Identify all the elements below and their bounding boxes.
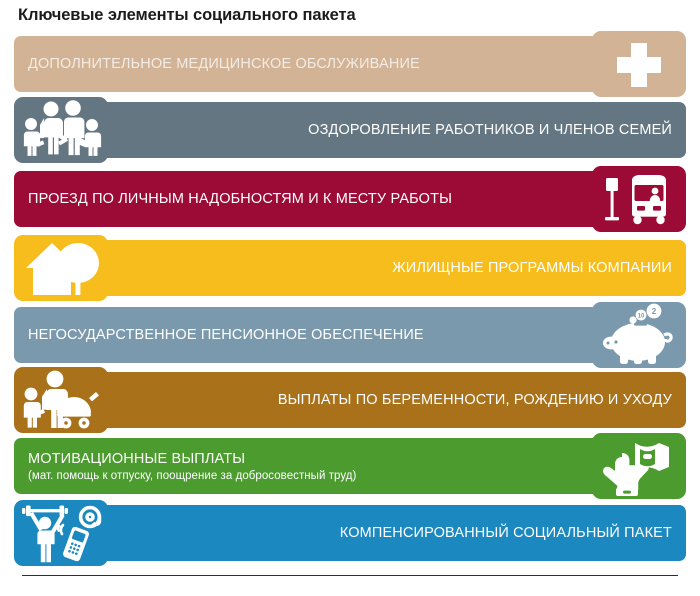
benefit-row-compensation[interactable]: КОМПЕНСИРОВАННЫЙ СОЦИАЛЬНЫЙ ПАКЕТ [14,505,686,561]
medical-cross-icon [592,31,686,97]
mother-children-icon [14,367,108,433]
benefit-label-housing: ЖИЛИЩНЫЕ ПРОГРАММЫ КОМПАНИИ [392,240,672,296]
benefit-label-compensation: КОМПЕНСИРОВАННЫЙ СОЦИАЛЬНЫЙ ПАКЕТ [340,505,672,561]
page-title: Ключевые элементы социального пакета [18,6,356,25]
sport-phone-at-icon [14,500,108,566]
benefit-label-motivation: МОТИВАЦИОННЫЕ ВЫПЛАТЫ(мат. помощь к отпу… [28,438,356,494]
benefit-row-transport[interactable]: ПРОЕЗД ПО ЛИЧНЫМ НАДОБНОСТЯМ И К МЕСТУ Р… [14,171,686,227]
footer-divider [22,575,678,576]
house-tree-icon [14,235,108,301]
svg-text:10: 10 [638,314,645,320]
infographic-page: Ключевые элементы социального пакета ДОП… [0,0,700,596]
benefit-label-text: ДОПОЛНИТЕЛЬНОЕ МЕДИЦИНСКОЕ ОБСЛУЖИВАНИЕ [28,56,420,72]
family-icon [14,97,108,163]
benefit-label-dms: ДОПОЛНИТЕЛЬНОЕ МЕДИЦИНСКОЕ ОБСЛУЖИВАНИЕ [28,36,420,92]
svg-text:2: 2 [652,307,657,316]
benefit-label-maternity: ВЫПЛАТЫ ПО БЕРЕМЕННОСТИ, РОЖДЕНИЮ И УХОД… [278,372,672,428]
benefit-row-maternity[interactable]: ВЫПЛАТЫ ПО БЕРЕМЕННОСТИ, РОЖДЕНИЮ И УХОД… [14,372,686,428]
benefit-label-text: НЕГОСУДАРСТВЕННОЕ ПЕНСИОННОЕ ОБЕСПЕЧЕНИЕ [28,327,424,343]
piggy-bank-icon: 2 10 [592,302,686,368]
benefit-row-health[interactable]: ОЗДОРОВЛЕНИЕ РАБОТНИКОВ И ЧЛЕНОВ СЕМЕЙ [14,102,686,158]
benefit-label-pension: НЕГОСУДАРСТВЕННОЕ ПЕНСИОННОЕ ОБЕСПЕЧЕНИЕ [28,307,424,363]
benefit-label-health: ОЗДОРОВЛЕНИЕ РАБОТНИКОВ И ЧЛЕНОВ СЕМЕЙ [308,102,672,158]
benefit-label-text: МОТИВАЦИОННЫЕ ВЫПЛАТЫ [28,451,245,467]
benefit-label-text: ВЫПЛАТЫ ПО БЕРЕМЕННОСТИ, РОЖДЕНИЮ И УХОД… [278,392,672,408]
benefit-label-text: ПРОЕЗД ПО ЛИЧНЫМ НАДОБНОСТЯМ И К МЕСТУ Р… [28,191,452,207]
benefit-row-pension[interactable]: 2 10 НЕГОСУДАРСТВЕННОЕ ПЕНСИОННОЕ ОБЕСПЕ… [14,307,686,363]
benefit-row-housing[interactable]: ЖИЛИЩНЫЕ ПРОГРАММЫ КОМПАНИИ [14,240,686,296]
benefit-row-motivation[interactable]: МОТИВАЦИОННЫЕ ВЫПЛАТЫ(мат. помощь к отпу… [14,438,686,494]
bus-stop-icon [592,166,686,232]
benefit-label-text: ЖИЛИЩНЫЕ ПРОГРАММЫ КОМПАНИИ [392,260,672,276]
benefit-label-text: ОЗДОРОВЛЕНИЕ РАБОТНИКОВ И ЧЛЕНОВ СЕМЕЙ [308,122,672,138]
benefit-sublabel-text: (мат. помощь к отпуску, поощрение за доб… [28,470,356,482]
hand-money-icon [592,433,686,499]
benefit-label-transport: ПРОЕЗД ПО ЛИЧНЫМ НАДОБНОСТЯМ И К МЕСТУ Р… [28,171,452,227]
benefit-row-dms[interactable]: ДОПОЛНИТЕЛЬНОЕ МЕДИЦИНСКОЕ ОБСЛУЖИВАНИЕ [14,36,686,92]
benefit-label-text: КОМПЕНСИРОВАННЫЙ СОЦИАЛЬНЫЙ ПАКЕТ [340,525,672,541]
